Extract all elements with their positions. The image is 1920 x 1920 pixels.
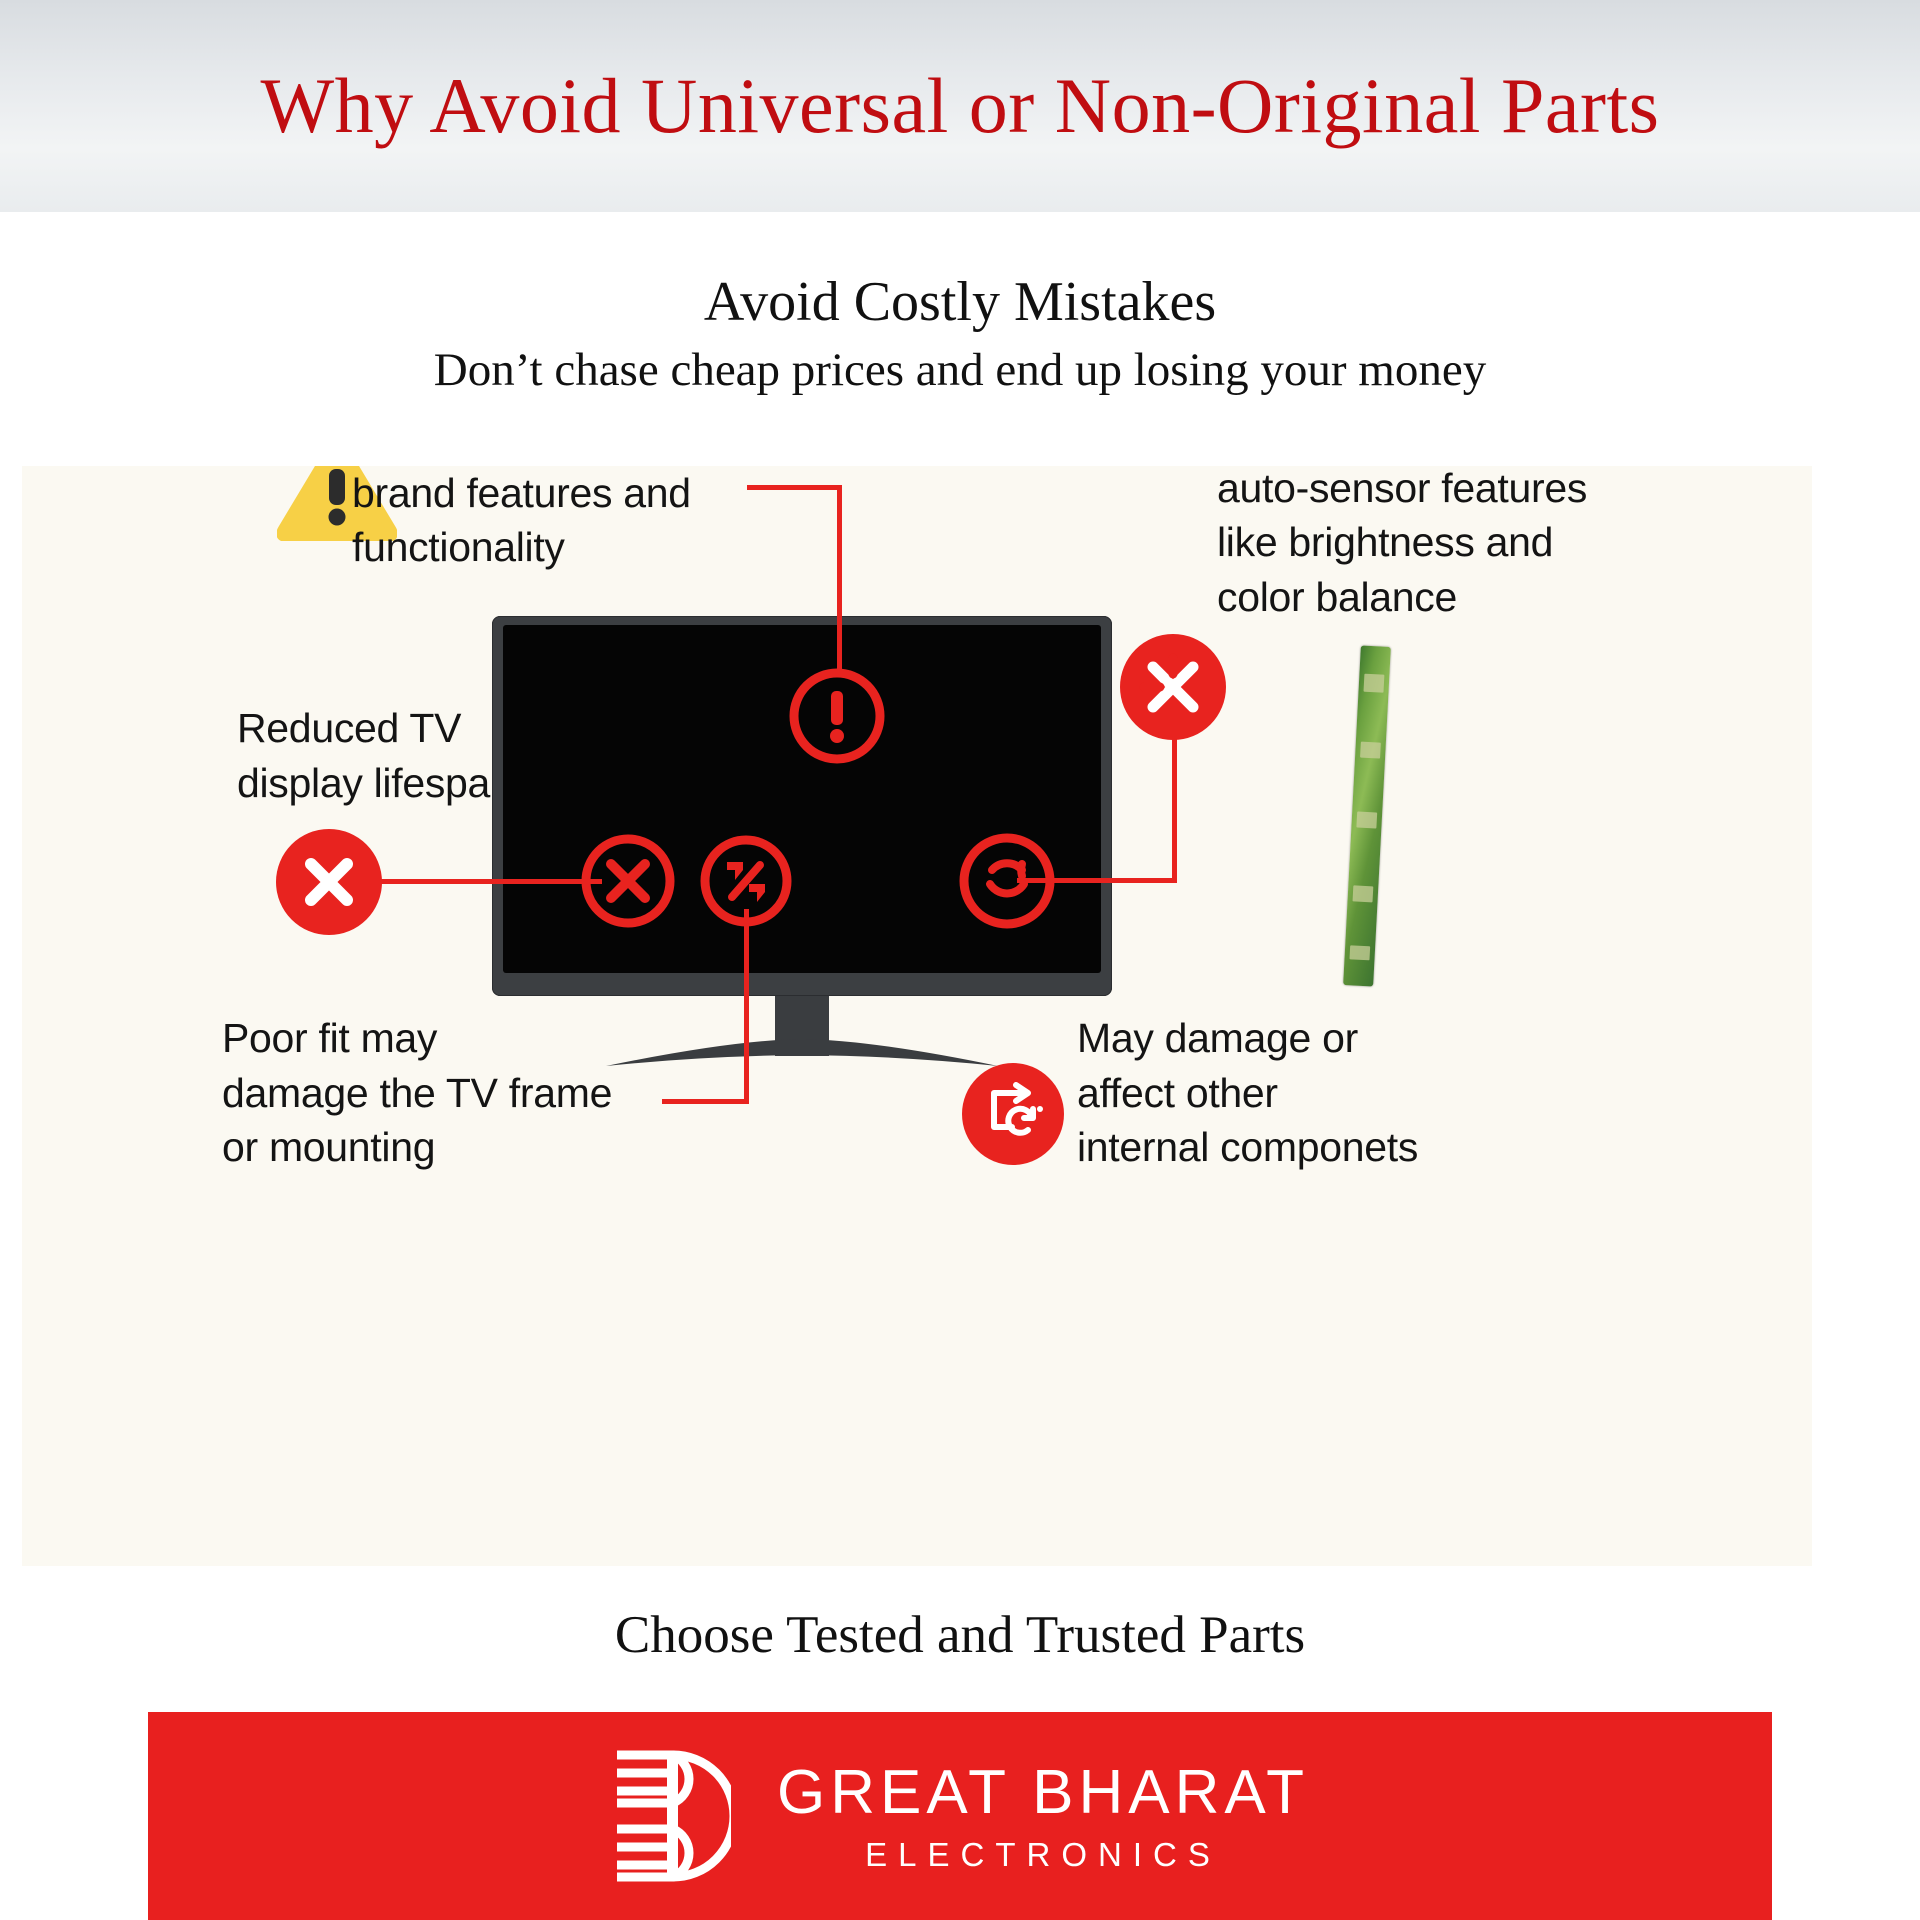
connector-line-tl-h: [747, 485, 842, 490]
caption-loss-of-features: Loss of original brand features and func…: [352, 466, 822, 575]
footer-brand-bar: GREAT BHARAT ELECTRONICS: [148, 1712, 1772, 1920]
cta-text: Choose Tested and Trusted Parts: [615, 1605, 1305, 1665]
brand-name: GREAT BHARAT: [777, 1762, 1309, 1824]
c-circle-icon: [952, 826, 1062, 936]
connector-line-ml-h: [352, 879, 602, 884]
tv-stand-base: [602, 1036, 1002, 1070]
illustration-panel: Loss of original brand features and func…: [22, 466, 1812, 1566]
caption-incompatible-auto-sensor: Incompatible with auto-sensor features l…: [1217, 466, 1747, 624]
exclamation-circle-icon: [782, 661, 892, 771]
led-backlight-strip: [1343, 645, 1391, 986]
percent-circle-icon: [694, 829, 798, 933]
x-circle-filled-icon: [276, 829, 382, 935]
page-header: Why Avoid Universal or Non-Original Part…: [0, 0, 1920, 212]
brand-subtitle: ELECTRONICS: [777, 1838, 1309, 1871]
caption-damage-internal-components: May damage or affect other internal comp…: [1077, 1011, 1547, 1175]
page-title: Why Avoid Universal or Non-Original Part…: [261, 67, 1660, 145]
brand-logo-icon: [611, 1741, 731, 1891]
subtitle-main: Avoid Costly Mistakes: [704, 273, 1216, 332]
subtitle-block: Avoid Costly Mistakes Don’t chase cheap …: [0, 212, 1920, 456]
subtitle-secondary: Don’t chase cheap prices and end up losi…: [434, 346, 1486, 395]
connector-line-bl-h: [662, 1099, 748, 1104]
connector-line-tl-v: [837, 485, 842, 670]
transfer-circle-icon: [962, 1063, 1064, 1165]
connector-line-bl-v: [744, 909, 749, 1104]
x-circle-icon: [574, 827, 682, 935]
cta-text-block: Choose Tested and Trusted Parts: [0, 1580, 1920, 1690]
broken-link-icon: [1120, 634, 1226, 740]
